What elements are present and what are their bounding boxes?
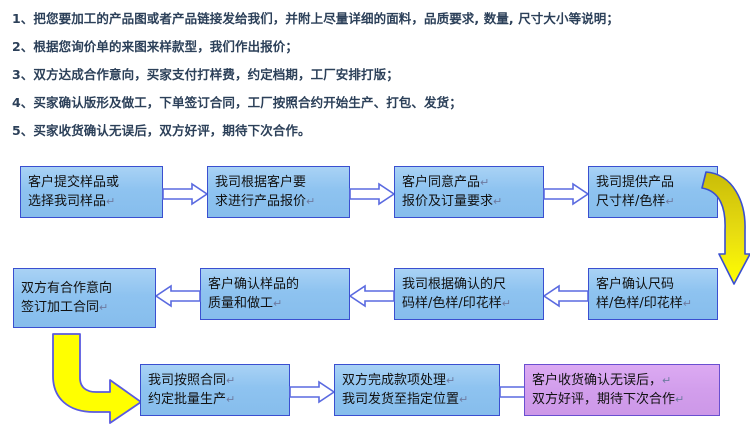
flow-node-6-line1: 我司根据确认的尺	[402, 275, 536, 294]
pilcrow-icon: ↵	[683, 297, 692, 310]
flow-node-9-line2: 约定批量生产↵	[148, 390, 282, 409]
flow-node-11-line2: 双方好评，期待下次合作↵	[532, 390, 712, 409]
pilcrow-icon: ↵	[446, 374, 455, 387]
flow-node-8-line1: 双方有合作意向	[21, 279, 148, 298]
connector-arrow-left-3	[155, 285, 200, 307]
flow-node-1[interactable]: 客户提交样品或 选择我司样品↵	[20, 166, 163, 218]
flow-node-5[interactable]: 客户确认尺码 样/色样/印花样↵	[588, 268, 718, 320]
flow-node-7[interactable]: 客户确认样品的 质量和做工↵	[200, 268, 350, 320]
connector-arrow-right-1	[163, 183, 208, 205]
connector-bent-arrow-down-right	[46, 330, 146, 426]
pilcrow-icon: ↵	[106, 195, 115, 208]
flow-node-2[interactable]: 我司根据客户要 求进行产品报价↵	[207, 166, 350, 218]
pilcrow-icon: ↵	[226, 374, 235, 387]
pilcrow-icon: ↵	[226, 393, 235, 406]
pilcrow-icon: ↵	[493, 195, 502, 208]
flow-node-9-line1: 我司按照合同↵	[148, 371, 282, 390]
flow-node-11[interactable]: 客户收货确认无误后，↵ 双方好评，期待下次合作↵	[524, 364, 720, 416]
flow-node-10[interactable]: 双方完成款项处理↵ 我司发货至指定位置↵	[334, 364, 500, 416]
process-flowchart: 客户提交样品或 选择我司样品↵ 我司根据客户要 求进行产品报价↵ 客户同意产品↵…	[0, 150, 750, 432]
instruction-list: 1、把您要加工的产品图或者产品链接发给我们，并附上尽量详细的面料，品质要求, 数…	[0, 0, 750, 152]
connector-arrow-right-2	[350, 183, 395, 205]
instruction-line-3: 3、双方达成合作意向，买家支付打样费，约定档期，工厂安排打版；	[12, 64, 399, 83]
pilcrow-icon: ↵	[99, 301, 108, 314]
flow-node-6-line2: 码样/色样/印花样↵	[402, 294, 536, 313]
pilcrow-icon: ↵	[675, 393, 684, 406]
pilcrow-icon: ↵	[273, 297, 282, 310]
connector-arrow-left-1	[543, 285, 588, 307]
flow-node-3-line1: 客户同意产品↵	[402, 173, 536, 192]
flow-node-10-line1: 双方完成款项处理↵	[342, 371, 492, 390]
pilcrow-icon: ↵	[459, 393, 468, 406]
flow-node-2-line1: 我司根据客户要	[215, 173, 342, 192]
flow-node-11-line1: 客户收货确认无误后，↵	[532, 371, 712, 390]
instruction-line-1: 1、把您要加工的产品图或者产品链接发给我们，并附上尽量详细的面料，品质要求, 数…	[12, 8, 619, 27]
flow-node-6[interactable]: 我司根据确认的尺 码样/色样/印花样↵	[394, 268, 544, 320]
pilcrow-icon: ↵	[502, 297, 511, 310]
connector-arrow-right-4	[290, 381, 335, 403]
flow-node-8-line2: 签订加工合同↵	[21, 298, 148, 317]
flow-node-3[interactable]: 客户同意产品↵ 报价及订量要求↵	[394, 166, 544, 218]
pilcrow-icon: ↵	[662, 374, 671, 387]
connector-arrow-right-3	[544, 183, 589, 205]
flow-node-5-line2: 样/色样/印花样↵	[596, 294, 710, 313]
flow-node-2-line2: 求进行产品报价↵	[215, 192, 342, 211]
flow-node-10-line2: 我司发货至指定位置↵	[342, 390, 492, 409]
flow-node-1-line2: 选择我司样品↵	[28, 192, 155, 211]
flow-node-3-line2: 报价及订量要求↵	[402, 192, 536, 211]
pilcrow-icon: ↵	[480, 176, 489, 189]
flow-node-7-line2: 质量和做工↵	[208, 294, 342, 313]
pilcrow-icon: ↵	[665, 195, 674, 208]
flow-node-5-line1: 客户确认尺码	[596, 275, 710, 294]
flow-node-9[interactable]: 我司按照合同↵ 约定批量生产↵	[140, 364, 290, 416]
flow-node-1-line1: 客户提交样品或	[28, 173, 155, 192]
connector-arrow-left-2	[349, 285, 394, 307]
instruction-line-4: 4、买家确认版形及做工，下单签订合同，工厂按照合约开始生产、打包、发货；	[12, 92, 462, 111]
instruction-line-5: 5、买家收货确认无误后，双方好评，期待下次合作。	[12, 120, 311, 139]
instruction-line-2: 2、根据您询价单的来图来样款型，我们作出报价；	[12, 36, 298, 55]
flow-node-7-line1: 客户确认样品的	[208, 275, 342, 294]
flow-node-8[interactable]: 双方有合作意向 签订加工合同↵	[13, 268, 156, 328]
pilcrow-icon: ↵	[306, 195, 315, 208]
